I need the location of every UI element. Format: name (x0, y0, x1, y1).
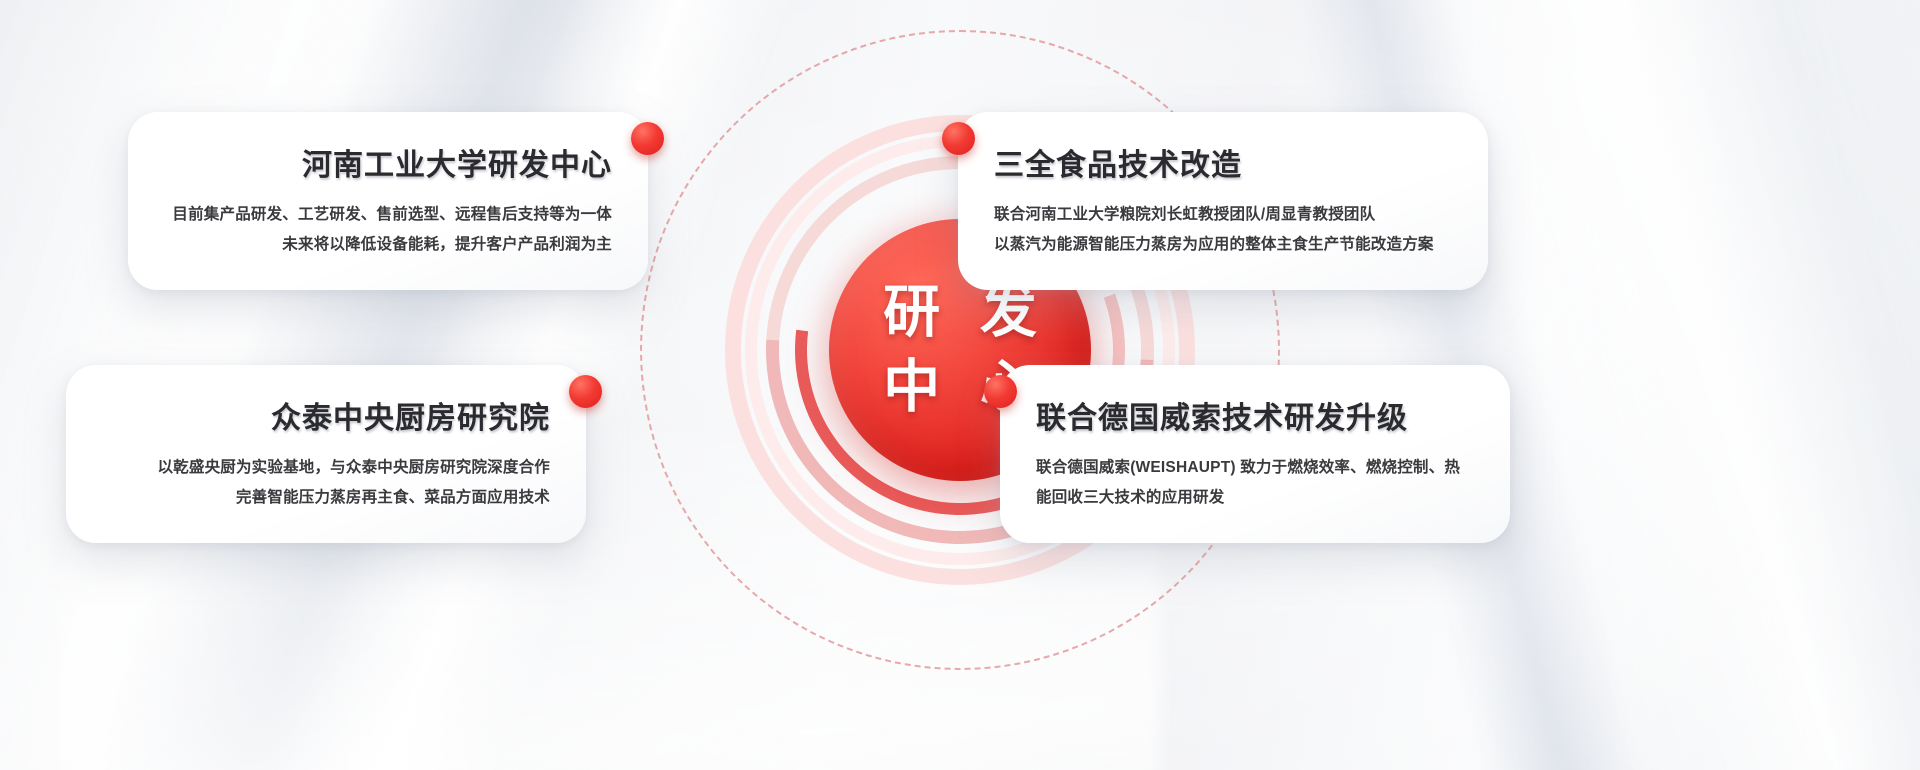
card-weishaupt-joint-rd-upgrade[interactable]: 联合德国威索技术研发升级 联合德国威索(WEISHAUPT) 致力于燃烧效率、燃… (1000, 365, 1510, 543)
card-title: 河南工业大学研发中心 (164, 140, 612, 184)
card-zhongtai-central-kitchen-institute[interactable]: 众泰中央厨房研究院 以乾盛央厨为实验基地，与众泰中央厨房研究院深度合作 完善智能… (66, 365, 586, 543)
card-line-1: 以乾盛央厨为实验基地，与众泰中央厨房研究院深度合作 (102, 453, 550, 483)
card-henan-university-rd-center[interactable]: 河南工业大学研发中心 目前集产品研发、工艺研发、售前选型、远程售后支持等为一体 … (128, 112, 648, 290)
card-line-2: 能回收三大技术的应用研发 (1036, 483, 1474, 513)
card-line-1: 联合河南工业大学粮院刘长虹教授团队/周显青教授团队 (994, 200, 1452, 230)
red-dot-icon (942, 122, 975, 155)
card-title: 众泰中央厨房研究院 (102, 393, 550, 437)
card-line-1: 联合德国威索(WEISHAUPT) 致力于燃烧效率、燃烧控制、热 (1036, 453, 1474, 483)
red-dot-icon (569, 375, 602, 408)
card-title: 三全食品技术改造 (994, 140, 1452, 184)
card-title: 联合德国威索技术研发升级 (1036, 393, 1474, 437)
red-dot-icon (631, 122, 664, 155)
research-center-infographic: 研 发 中 心 河南工业大学研发中心 目前集产品研发、工艺研发、售前选型、远程售… (0, 0, 1920, 770)
card-line-2: 以蒸汽为能源智能压力蒸房为应用的整体主食生产节能改造方案 (994, 230, 1452, 260)
card-line-2: 未来将以降低设备能耗，提升客户产品利润为主 (164, 230, 612, 260)
card-line-1: 目前集产品研发、工艺研发、售前选型、远程售后支持等为一体 (164, 200, 612, 230)
card-line-2: 完善智能压力蒸房再主食、菜品方面应用技术 (102, 483, 550, 513)
red-dot-icon (984, 375, 1017, 408)
center-emblem: 研 发 中 心 (610, 0, 1310, 700)
card-sanquan-food-technical-upgrade[interactable]: 三全食品技术改造 联合河南工业大学粮院刘长虹教授团队/周显青教授团队 以蒸汽为能… (958, 112, 1488, 290)
